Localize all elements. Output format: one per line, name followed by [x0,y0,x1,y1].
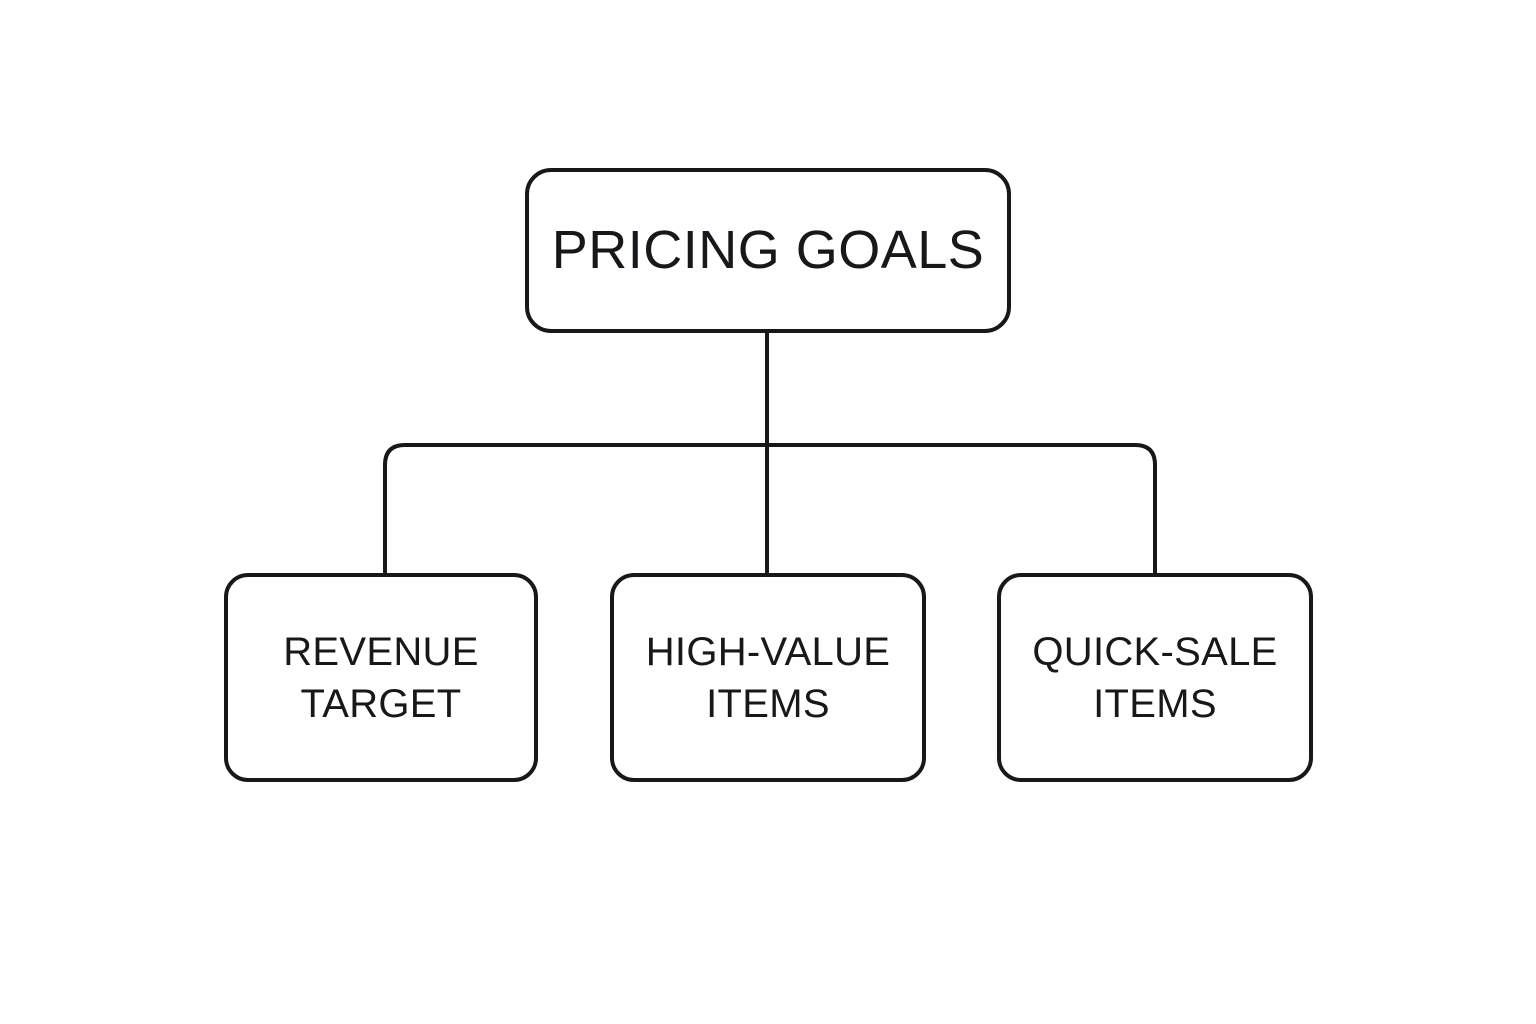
diagram-canvas: PRICING GOALS REVENUE TARGET HIGH-VALUE … [0,0,1536,1024]
node-revenue-target[interactable]: REVENUE TARGET [224,573,538,782]
node-pricing-goals[interactable]: PRICING GOALS [525,168,1011,333]
connector-layer [0,0,1536,1024]
node-high-value-items[interactable]: HIGH-VALUE ITEMS [610,573,926,782]
node-revenue-target-label: REVENUE TARGET [283,626,478,730]
node-quick-sale-items[interactable]: QUICK-SALE ITEMS [997,573,1313,782]
connector-branch-bus [385,445,1155,573]
node-pricing-goals-label: PRICING GOALS [552,215,985,285]
node-high-value-items-label: HIGH-VALUE ITEMS [646,626,891,730]
node-quick-sale-items-label: QUICK-SALE ITEMS [1032,626,1277,730]
